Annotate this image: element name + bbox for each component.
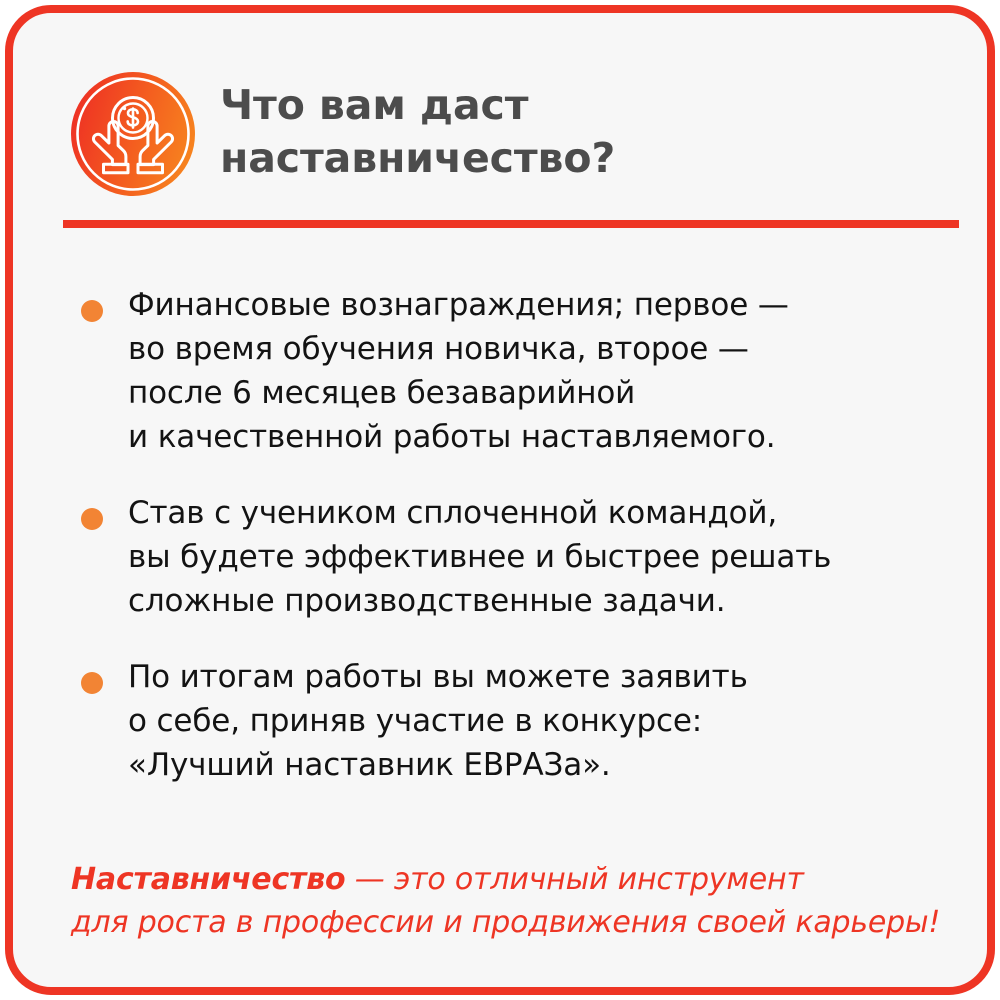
- list-item-text: Став с учеником сплоченной командой, вы …: [128, 491, 959, 623]
- bullet-dot-icon: [81, 508, 103, 530]
- info-card: Что вам даст наставничество? Финансовые …: [5, 5, 995, 995]
- hands-holding-coin-icon: [69, 70, 197, 198]
- card-header: Что вам даст наставничество?: [69, 66, 949, 206]
- footer-lead-word: Наставничество: [71, 862, 345, 897]
- list-item: Финансовые вознаграждения; первое — во в…: [69, 283, 959, 459]
- list-item-text: По итогам работы вы можете заявить о себ…: [128, 655, 959, 787]
- bullet-dot-icon: [81, 300, 103, 322]
- bullet-dot-icon: [81, 672, 103, 694]
- list-item: Став с учеником сплоченной командой, вы …: [69, 491, 959, 623]
- page-title: Что вам даст наставничество?: [220, 66, 615, 186]
- footer-tagline: Наставничество — это отличный инструмент…: [71, 858, 971, 944]
- benefits-list: Финансовые вознаграждения; первое — во в…: [69, 283, 959, 787]
- list-item: По итогам работы вы можете заявить о себ…: [69, 655, 959, 787]
- list-item-text: Финансовые вознаграждения; первое — во в…: [128, 283, 959, 459]
- header-divider: [63, 220, 959, 228]
